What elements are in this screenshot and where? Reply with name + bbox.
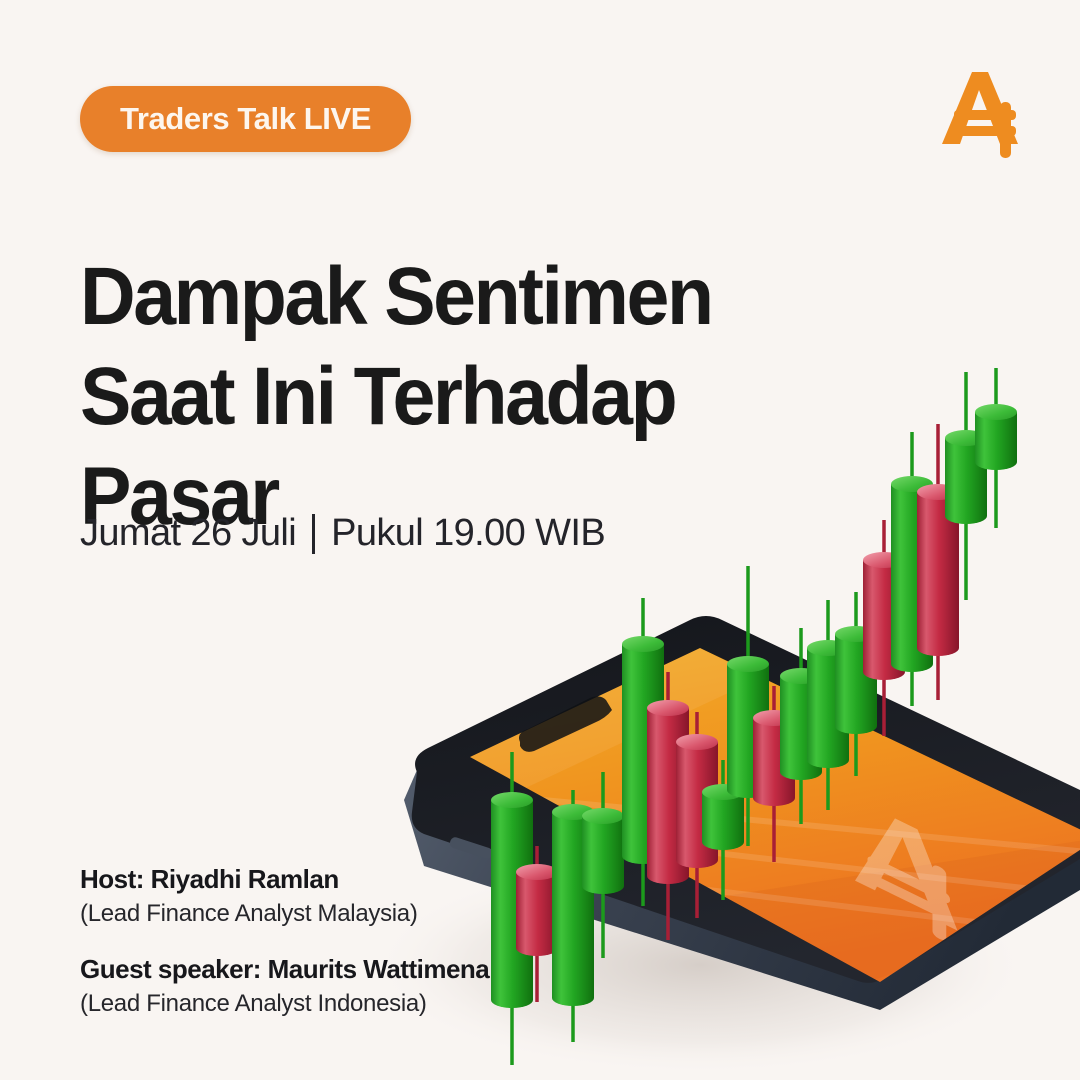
candle-top-cap — [676, 734, 718, 750]
candle-top-cap — [582, 808, 624, 824]
candle-top-cap — [975, 404, 1017, 420]
credit-guest-role: (Lead Finance Analyst Indonesia) — [80, 990, 489, 1018]
candle-body — [582, 816, 624, 894]
candle-top-cap — [727, 656, 769, 672]
candle-top-cap — [622, 636, 664, 652]
credit-guest: Guest speaker: Maurits Wattimena (Lead F… — [80, 954, 489, 1018]
candle-top-cap — [516, 864, 558, 880]
speaker-credits: Host: Riyadhi Ramlan (Lead Finance Analy… — [80, 864, 489, 1018]
candle-body — [975, 412, 1017, 470]
credit-host-name: Host: Riyadhi Ramlan — [80, 864, 489, 895]
candle-body — [702, 792, 744, 850]
candle-body — [516, 872, 558, 956]
credit-host: Host: Riyadhi Ramlan (Lead Finance Analy… — [80, 864, 489, 928]
candle-top-cap — [491, 792, 533, 808]
credit-host-role: (Lead Finance Analyst Malaysia) — [80, 900, 489, 928]
promo-poster: Traders Talk LIVE Dampak Sentimen Saat I… — [0, 0, 1080, 1080]
credit-guest-name: Guest speaker: Maurits Wattimena — [80, 954, 489, 985]
candle-top-cap — [647, 700, 689, 716]
